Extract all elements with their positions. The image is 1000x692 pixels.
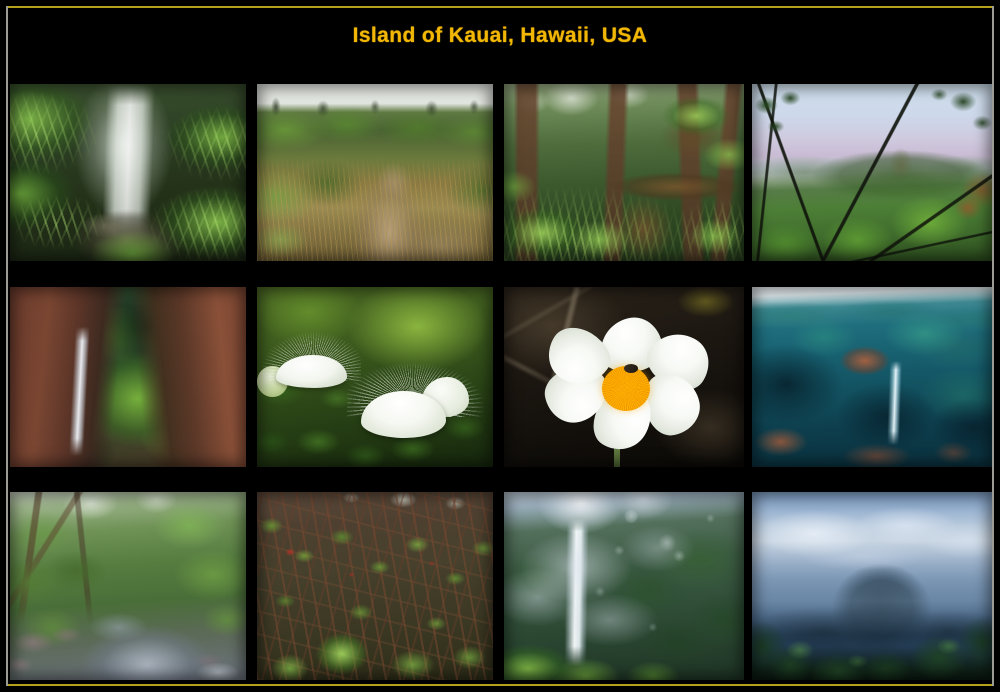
photo-layer-foreground-leaves xyxy=(257,492,493,680)
photo-layer-stream xyxy=(10,492,246,680)
frame-border-bottom xyxy=(6,684,994,686)
photo-thumbnail[interactable] xyxy=(10,492,246,680)
photo-thumbnail[interactable] xyxy=(504,492,744,680)
frame-border-top xyxy=(6,6,994,8)
page-title: Island of Kauai, Hawaii, USA xyxy=(0,24,1000,48)
frame-border-right xyxy=(992,6,994,686)
photo-thumbnail[interactable] xyxy=(504,84,744,261)
photo-layer-fern-fronds xyxy=(504,84,744,261)
flower-petal-lower xyxy=(361,391,446,438)
photo-gallery-page: Island of Kauai, Hawaii, USA xyxy=(0,0,1000,692)
photo-layer-waterfall xyxy=(752,287,992,467)
photo-thumbnail[interactable] xyxy=(10,84,246,261)
photo-thumbnail[interactable] xyxy=(257,84,493,261)
photo-layer-tree-highlights xyxy=(752,492,992,680)
photo-thumbnail[interactable] xyxy=(752,84,992,261)
photo-layer-lens-droplets xyxy=(504,492,744,680)
photo-thumbnail[interactable] xyxy=(257,287,493,467)
photo-layer-leaf-tufts xyxy=(752,84,992,261)
photo-layer-fronds xyxy=(10,84,246,261)
photo-thumbnail[interactable] xyxy=(504,287,744,467)
photo-layer-grass xyxy=(257,84,493,261)
flower-petal-upper xyxy=(276,355,347,387)
frame-border-left xyxy=(6,6,8,686)
photo-thumbnail[interactable] xyxy=(752,287,992,467)
photo-layer-waterfall xyxy=(10,287,246,467)
photo-thumbnail[interactable] xyxy=(257,492,493,680)
photo-thumbnail[interactable] xyxy=(10,287,246,467)
photo-grid xyxy=(10,84,992,680)
photo-thumbnail[interactable] xyxy=(752,492,992,680)
